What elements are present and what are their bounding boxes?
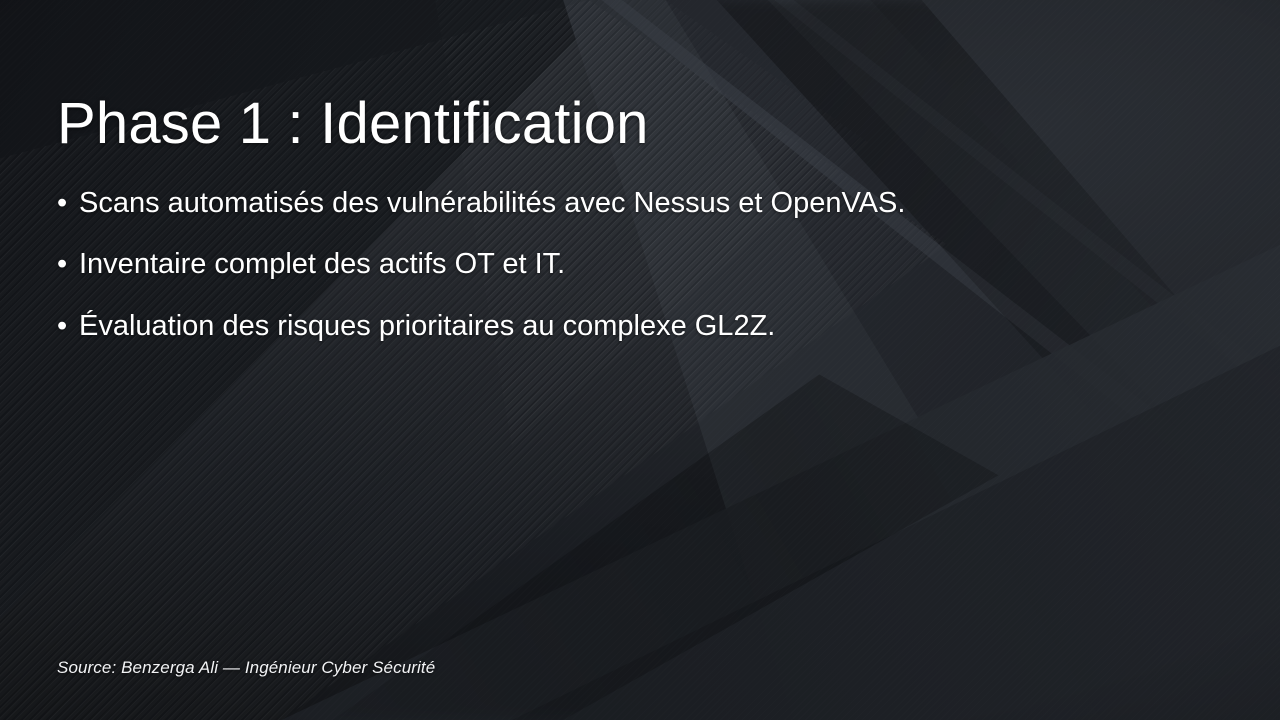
presentation-slide: Phase 1 : Identification • Scans automat… bbox=[0, 0, 1280, 720]
list-item-label: Inventaire complet des actifs OT et IT. bbox=[79, 248, 565, 280]
bullet-icon: • bbox=[57, 309, 67, 344]
slide-content: Phase 1 : Identification • Scans automat… bbox=[0, 0, 1280, 720]
list-item-label: Scans automatisés des vulnérabilités ave… bbox=[79, 187, 905, 219]
page-title: Phase 1 : Identification bbox=[57, 93, 649, 156]
list-item: • Scans automatisés des vulnérabilités a… bbox=[57, 186, 1107, 221]
bullet-list: • Scans automatisés des vulnérabilités a… bbox=[57, 186, 1107, 344]
list-item: • Inventaire complet des actifs OT et IT… bbox=[57, 247, 1107, 282]
bullet-icon: • bbox=[57, 186, 67, 221]
bullet-icon: • bbox=[57, 247, 67, 282]
list-item-label: Évaluation des risques prioritaires au c… bbox=[79, 310, 775, 342]
source-attribution: Source: Benzerga Ali — Ingénieur Cyber S… bbox=[57, 658, 435, 678]
list-item: • Évaluation des risques prioritaires au… bbox=[57, 309, 1107, 344]
